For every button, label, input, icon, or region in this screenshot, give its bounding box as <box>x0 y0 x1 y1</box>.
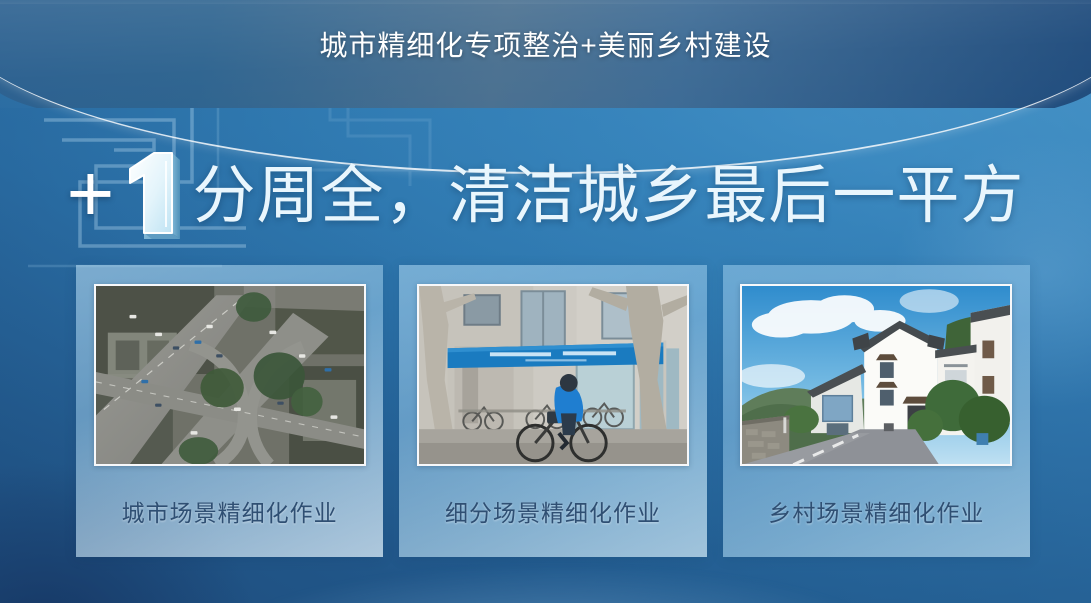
rural-village-houses-photo <box>740 284 1012 466</box>
aerial-highway-interchange-photo <box>94 284 366 466</box>
card-city-scene[interactable]: 城市场景精细化作业 <box>76 265 383 557</box>
card-caption: 城市场景精细化作业 <box>122 494 338 528</box>
card-village-scene[interactable]: 乡村场景精细化作业 <box>723 265 1030 557</box>
card-caption: 细分场景精细化作业 <box>445 494 661 528</box>
headline: + <box>0 146 1091 246</box>
card-caption: 乡村场景精细化作业 <box>768 494 984 528</box>
card-subdivided-scene[interactable]: 细分场景精细化作业 <box>399 265 706 557</box>
plus-symbol: + <box>67 153 115 235</box>
card-row: 城市场景精细化作业 <box>76 265 1030 557</box>
numeral-one-3d-icon <box>120 147 188 245</box>
headline-text: 分周全，清洁城乡最后一平方 <box>192 165 1024 228</box>
page-title: 城市精细化专项整治+美丽乡村建设 <box>0 24 1091 64</box>
street-banner-cyclist-photo <box>417 284 689 466</box>
slide-root: 城市精细化专项整治+美丽乡村建设 + <box>0 0 1091 603</box>
